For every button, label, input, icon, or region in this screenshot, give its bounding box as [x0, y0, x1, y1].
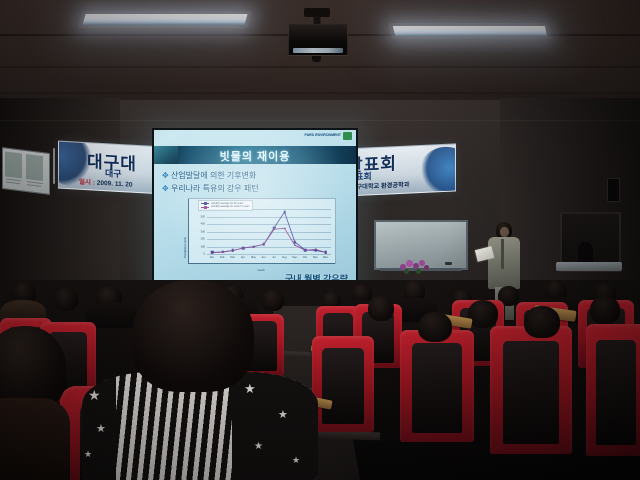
audience-head: [524, 306, 560, 338]
chart-y-axis-label: Precipitation (mm): [184, 237, 187, 258]
auditorium-photo: 대구대 대구 일시 : 2009. 11. 20 발표회 발표회 : 대구대학교…: [0, 0, 640, 480]
chart-x-axis-label: month: [257, 269, 264, 272]
wall-poster: [2, 147, 50, 195]
chart-data-point: [315, 248, 317, 250]
audience-head: [54, 288, 78, 311]
bullet-marker-icon: ✥: [162, 171, 169, 180]
wall-trim-line: [0, 120, 640, 121]
chart-data-point: [232, 250, 234, 252]
chart-data-point: [222, 251, 224, 253]
audience-head: [418, 312, 452, 342]
banner-date-value: 2009. 11. 20: [97, 180, 133, 189]
auditorium-seat[interactable]: [400, 330, 474, 442]
chart-data-point: [294, 241, 297, 244]
ceiling-seam: [0, 66, 640, 68]
chart-data-point: [294, 244, 296, 246]
chart-legend-marker-icon: [201, 207, 209, 208]
foreground-attendee-left: [0, 326, 72, 480]
chart-data-point: [273, 228, 275, 230]
slide-title: 빗물의 재이용: [154, 148, 356, 164]
chart-data-point: [263, 243, 265, 245]
slide-logo: PARD ENVIRONMENT: [305, 132, 353, 140]
chart-data-point: [325, 252, 327, 254]
fluorescent-light-right: [393, 26, 547, 36]
chart-legend-label: monthly average for recent 5 years: [211, 205, 250, 208]
booth-attendant: [578, 242, 593, 264]
booth-desk: [556, 262, 622, 271]
slide-logo-mark: [343, 132, 352, 140]
ceiling-projector: [288, 8, 346, 58]
chart-legend-marker-icon: [201, 203, 209, 204]
ceiling-seam: [0, 92, 640, 94]
slide-logo-text: PARD ENVIRONMENT: [305, 134, 342, 138]
flower-arrangement: [398, 258, 432, 276]
event-banner-right: 발표회 발표회 : 대구대학교 환경공학과: [342, 143, 456, 196]
chart-data-point: [304, 249, 306, 251]
precipitation-chart: 0100200300400500600Jan.Feb.Mar.Apr.MayJu…: [188, 198, 336, 264]
slide-bullet-1: ✥ 산업발달에 의한 기후변화: [162, 170, 256, 181]
chart-data-point: [284, 227, 286, 229]
slide-bullet-2-text: 우리나라 특유의 강우 패턴: [171, 184, 259, 193]
audience-head: [590, 296, 620, 324]
chart-data-point: [253, 246, 255, 248]
chart-legend-item: monthly average for recent 5 years: [201, 205, 250, 208]
audience-head: [468, 300, 498, 328]
wall-speaker: [607, 178, 620, 202]
foreground-attendee-head: [132, 280, 254, 392]
fluorescent-light-left: [82, 14, 247, 25]
chart-data-point: [242, 247, 244, 249]
banner-date-label: 일시 :: [79, 179, 95, 187]
banner-date: 일시 : 2009. 11. 20: [79, 176, 133, 189]
chart-data-point: [283, 211, 286, 214]
presentation-slide: PARD ENVIRONMENT 빗물의 재이용 ✥ 산업발달에 의한 기후변화…: [154, 130, 356, 288]
audience-head: [368, 296, 394, 321]
projection-screen: PARD ENVIRONMENT 빗물의 재이용 ✥ 산업발달에 의한 기후변화…: [152, 128, 358, 290]
chart-data-point: [211, 252, 213, 254]
auditorium-seat[interactable]: [586, 324, 640, 456]
auditorium-seat[interactable]: [490, 326, 572, 454]
slide-bullet-2: ✥ 우리나라 특유의 강우 패턴: [162, 183, 259, 194]
wall-pipe: [53, 148, 55, 184]
foreground-attendee-striped-jacket: ★ ★ ★ ★ ★ ★ ★: [82, 280, 322, 480]
chart-legend: monthly average for 30 yearsmonthly aver…: [198, 200, 253, 211]
bullet-marker-icon: ✥: [162, 184, 169, 193]
slide-bullet-1-text: 산업발달에 의한 기후변화: [171, 171, 256, 180]
